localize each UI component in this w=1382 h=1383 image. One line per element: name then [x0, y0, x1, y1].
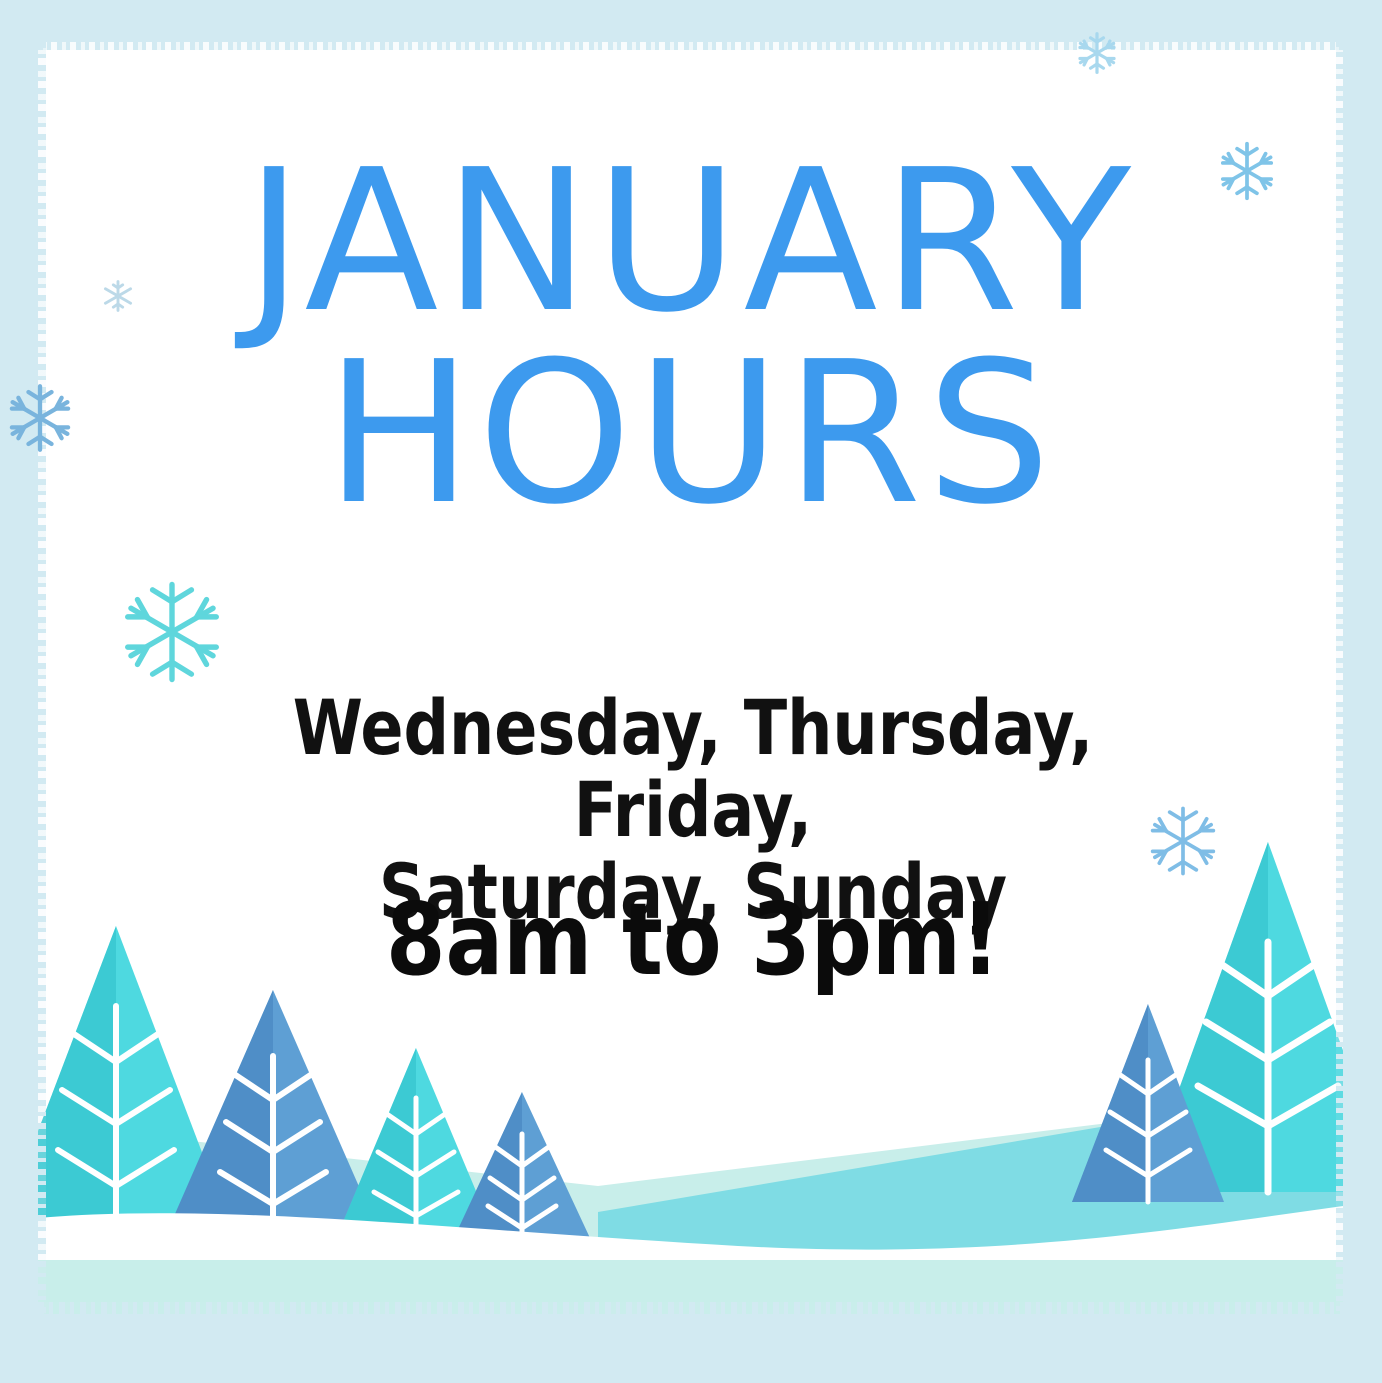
january-hours-poster: JANUARY HOURS Wednesday, Thursday, Frida… [0, 0, 1382, 1383]
snowflake-top-right [1216, 140, 1278, 202]
tree-4 [454, 1092, 590, 1238]
tree-2 [168, 990, 378, 1230]
ground-band [38, 1260, 1343, 1314]
snowflake-left-small [100, 278, 136, 314]
paper-card: JANUARY HOURS Wednesday, Thursday, Frida… [38, 42, 1343, 1314]
snowflake-left-large [118, 578, 226, 686]
snowflake-left-edge [4, 382, 76, 454]
title-line-hours: HOURS [38, 338, 1343, 530]
page-title: JANUARY HOURS [38, 146, 1343, 530]
snowflake-right-mid [1146, 804, 1220, 878]
snowflake-top-right-small [1074, 30, 1120, 76]
